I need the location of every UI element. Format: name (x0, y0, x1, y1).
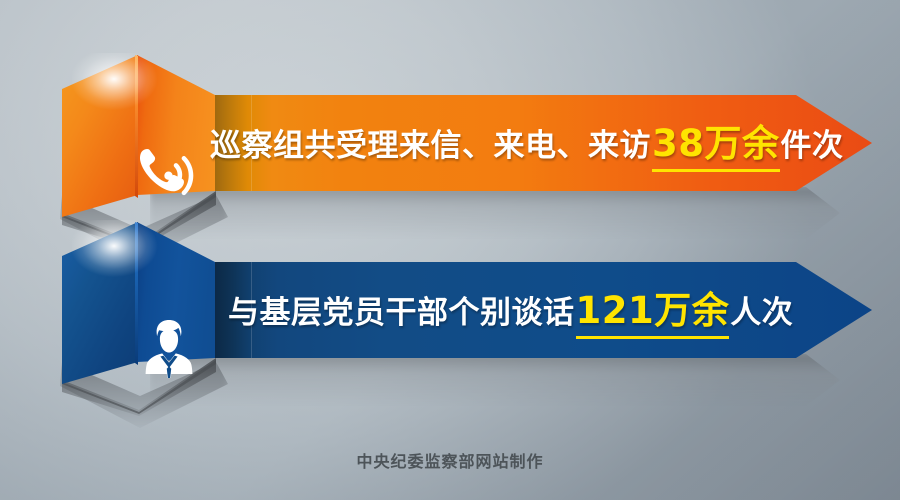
fold-panel-left-orange (62, 55, 138, 245)
banner-row-calls: 巡察组共受理来信、来电、来访38万余件次 (0, 55, 900, 245)
banner-bar-orange (186, 95, 872, 191)
phone-signal-icon (138, 147, 198, 209)
fold-panel-left-blue (62, 222, 138, 412)
banner-row-talks: 与基层党员干部个别谈话121万余人次 (0, 222, 900, 412)
fold-crease-blue (135, 222, 138, 365)
bar-seam-orange (251, 95, 252, 191)
person-suit-icon (140, 316, 198, 378)
bar-drop-shadow-blue (150, 354, 840, 406)
bar-seam-blue (251, 262, 252, 358)
footer-credit: 中央纪委监察部网站制作 (0, 448, 900, 472)
infographic-canvas: 巡察组共受理来信、来电、来访38万余件次 (0, 0, 900, 500)
banner-bar-blue (186, 262, 872, 358)
